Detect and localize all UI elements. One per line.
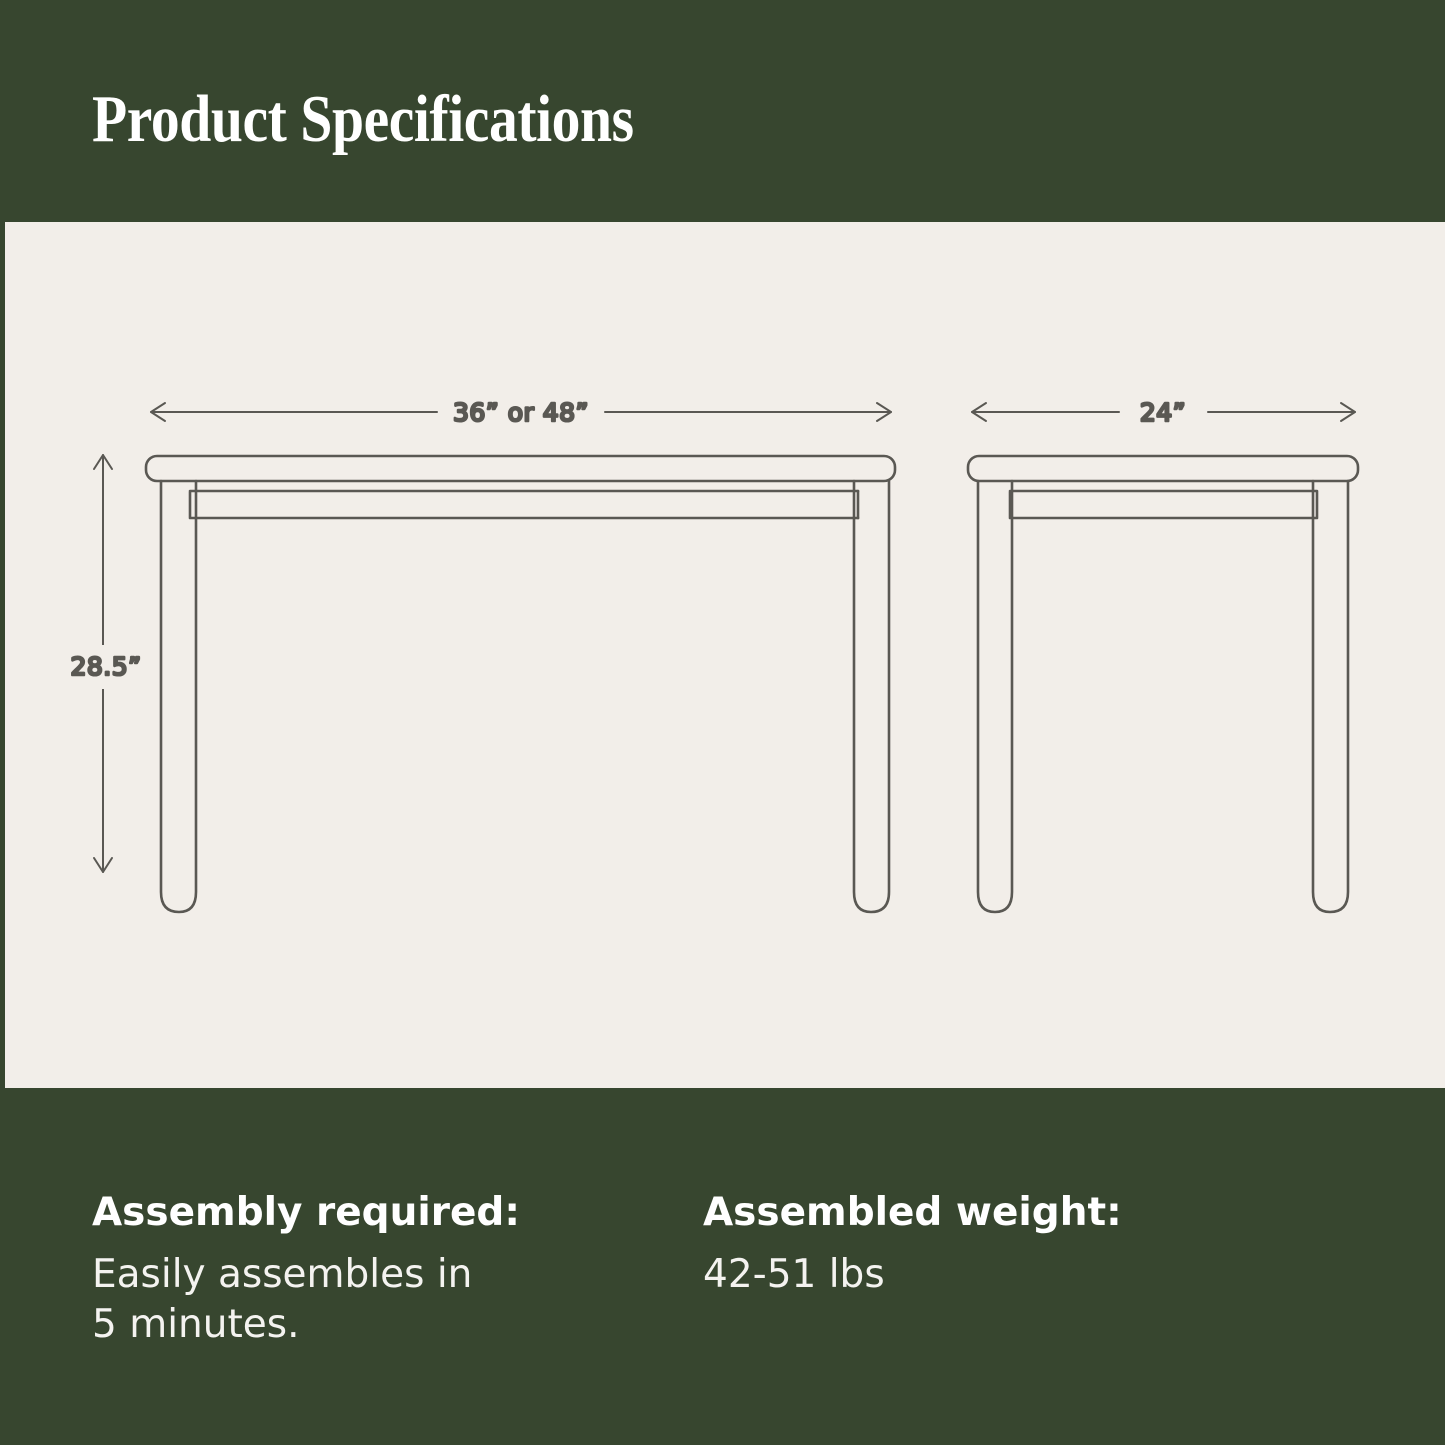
spec-value-weight-line-1: 42-51 lbs: [703, 1250, 1303, 1300]
front-view-leg-right: [854, 481, 889, 912]
spec-value-assembly-line-1: Easily assembles in: [92, 1250, 652, 1300]
table-dimension-drawing: 36” or 48” 24” 28.5”: [5, 222, 1445, 1088]
front-view-table: [146, 456, 895, 912]
spec-block-weight: Assembled weight: 42-51 lbs: [703, 1193, 1303, 1300]
side-view-leg-left: [978, 481, 1012, 912]
front-view-tabletop: [146, 456, 895, 481]
spec-heading-assembly: Assembly required:: [92, 1193, 652, 1234]
spec-heading-weight: Assembled weight:: [703, 1193, 1303, 1234]
page-title: Product Specifications: [92, 86, 634, 153]
width-dimension-label: 36” or 48”: [453, 398, 589, 427]
side-view-table: [968, 456, 1358, 912]
side-view-apron: [1010, 491, 1317, 518]
side-view-tabletop: [968, 456, 1358, 481]
spec-value-assembly-line-2: 5 minutes.: [92, 1300, 652, 1350]
spec-block-assembly: Assembly required: Easily assembles in 5…: [92, 1193, 652, 1350]
diagram-panel: 36” or 48” 24” 28.5”: [5, 222, 1445, 1088]
spec-value-weight: 42-51 lbs: [703, 1250, 1303, 1300]
header-banner: Product Specifications: [0, 0, 1445, 222]
depth-dimension-label: 24”: [1140, 398, 1186, 427]
front-view-leg-left: [161, 481, 196, 912]
height-dimension-label: 28.5”: [70, 652, 141, 681]
product-specifications-page: Product Specifications: [0, 0, 1445, 1445]
side-view-leg-right: [1313, 481, 1348, 912]
footer-specs: Assembly required: Easily assembles in 5…: [0, 1088, 1445, 1445]
front-view-apron: [190, 491, 858, 518]
spec-value-assembly: Easily assembles in 5 minutes.: [92, 1250, 652, 1350]
